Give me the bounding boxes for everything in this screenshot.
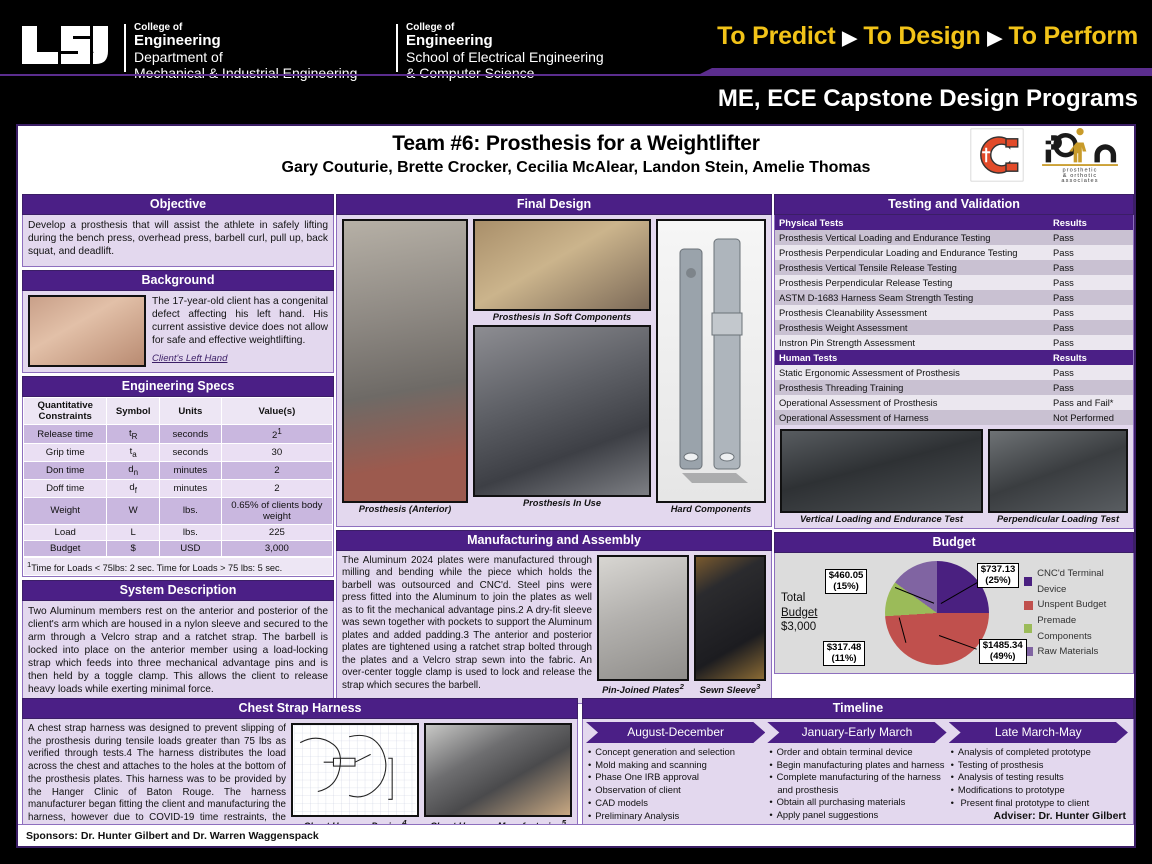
timeline-item: Preliminary Analysis [596,810,763,822]
header-accent-rule [0,68,1152,76]
system-description-text: Two Aluminum members rest on the anterio… [28,605,328,696]
budget-total-label-1: Total [781,591,829,605]
spec-symbol: $ [107,540,160,556]
prosthesis-in-use-photo [473,325,651,497]
chest-harness-heading: Chest Strap Harness [22,698,578,719]
poa-logo: prosthetic & orthotic associates [1034,128,1126,184]
legend-item-raw: Raw Materials [1024,644,1132,660]
caption: Vertical Loading and Endurance Test [780,513,983,524]
table-row: Prosthesis Vertical Loading and Enduranc… [775,230,1133,245]
test-name: Static Ergonomic Assessment of Prosthesi… [775,365,1049,380]
timeline-item: Complete manufacturing of the harness an… [777,771,944,795]
test-name: Instron Pin Strength Assessment [775,335,1049,350]
legend-item-cnc: CNC'd Terminal Device [1024,566,1132,597]
engineering-specs-table-wrap: Quantitative Constraints Symbol Units Va… [22,397,334,577]
program-title: ME, ECE Capstone Design Programs [718,85,1138,113]
chest-harness-item-1: Chest Harness Design4 [291,723,419,832]
spec-constraint: Load [24,524,107,540]
caption: Prosthesis In Use [473,497,651,508]
human-results-label: Results [1049,350,1133,365]
triangle-icon-2: ▶ [987,28,1001,49]
chest-harness-design-sketch [291,723,419,817]
tagline-perform: To Perform [1009,22,1139,50]
budget-chart: Total Budget $3,000 $460.05 (15%) [775,553,1133,673]
final-design-item-4: Hard Components [656,219,766,522]
spec-symbol: W [107,497,160,524]
callout-raw-materials: $460.05 (15%) [825,569,868,594]
prosthesis-anterior-photo [342,219,468,503]
legend-swatch-cnc [1024,577,1033,586]
testing-image-2: Perpendicular Loading Test [988,429,1128,524]
lsu-logo [18,22,118,68]
poster-canvas: Team #6: Prosthesis for a Weightlifter G… [16,124,1136,848]
budget-total-value: $3,000 [781,620,829,634]
legend-swatch-premade [1024,624,1033,633]
manufacturing-text: The Aluminum 2024 plates were manufactur… [342,555,592,692]
spec-value: 21 [221,425,332,444]
test-name: Prosthesis Vertical Loading and Enduranc… [775,230,1049,245]
right-column: Testing and Validation Physical Tests Re… [774,194,1134,674]
page-header: College of Engineering Department of Mec… [0,0,1152,122]
caption: Prosthesis (Anterior) [342,503,468,514]
spec-constraint: Release time [24,425,107,444]
callout-unspent-budget: $1485.34 (49%) [979,639,1027,664]
test-result: Pass [1049,320,1133,335]
tagline-predict: To Predict [717,22,835,50]
specs-col-values: Value(s) [221,398,332,425]
test-name: Prosthesis Threading Training [775,380,1049,395]
timeline-item: Analysis of testing results [959,771,1126,783]
table-row: Don time dn minutes 2 [24,462,333,480]
final-design-item-2: Prosthesis In Soft Components [473,219,651,322]
spec-symbol: df [107,480,160,498]
background-text: The 17-year-old client has a congenital … [152,295,328,347]
spec-constraint: Grip time [24,444,107,462]
manufacturing-item-1: Pin-Joined Plates2 [597,555,689,699]
test-result: Pass [1049,245,1133,260]
timeline-item: Present final prototype to client [959,797,1126,809]
test-result: Pass [1049,290,1133,305]
budget-total-label-2: Budget [781,606,829,620]
chest-harness-text: A chest strap harness was designed to pr… [28,723,286,838]
timeline-phase-label-1[interactable]: August-December [586,722,765,743]
spec-units: lbs. [159,497,221,524]
table-row: Prosthesis Vertical Tensile Release Test… [775,260,1133,275]
test-result: Pass [1049,305,1133,320]
timeline-item: Analysis of completed prototype [959,746,1126,758]
table-row: Load L lbs. 225 [24,524,333,540]
table-row: Grip time ta seconds 30 [24,444,333,462]
spec-symbol: tR [107,425,160,444]
table-row: Instron Pin Strength AssessmentPass [775,335,1133,350]
spec-constraint: Budget [24,540,107,556]
test-result: Pass and Fail* [1049,395,1133,410]
physical-tests-label: Physical Tests [775,215,1049,230]
spec-value: 2 [221,480,332,498]
timeline-item: Order and obtain terminal device [777,746,944,758]
timeline-phase-headers: August-December January-Early March Late… [586,722,1130,743]
timeline-item: Phase One IRB approval [596,771,763,783]
poster-authors: Gary Couturie, Brette Crocker, Cecilia M… [18,156,1134,177]
budget-body: Total Budget $3,000 $460.05 (15%) [774,553,1134,674]
table-row: Prosthesis Cleanability AssessmentPass [775,305,1133,320]
caption: Prosthesis In Soft Components [473,311,651,322]
system-description-heading: System Description [22,580,334,601]
hard-components-render [656,219,766,503]
dept1-department: Department of [134,50,357,66]
system-description-body: Two Aluminum members rest on the anterio… [22,601,334,701]
table-row: ASTM D-1683 Harness Seam Strength Testin… [775,290,1133,305]
final-design-item-3: Prosthesis In Use [473,325,651,508]
spec-symbol: L [107,524,160,540]
test-name: Operational Assessment of Prosthesis [775,395,1049,410]
header-divider-2 [396,24,398,72]
left-column: Objective Develop a prosthesis that will… [22,194,334,701]
manufacturing-body: The Aluminum 2024 plates were manufactur… [336,551,772,704]
budget-legend: CNC'd Terminal Device Unspent Budget Pre… [1024,566,1132,659]
partner-logos: prosthetic & orthotic associates [970,128,1126,184]
manufacturing-heading: Manufacturing and Assembly [336,530,772,551]
testing-table: Physical Tests Results Prosthesis Vertic… [775,215,1133,425]
dept2-school: School of Electrical Engineering [406,50,604,66]
test-result: Not Performed [1049,410,1133,425]
timeline-phase-label-3[interactable]: Late March-May [949,722,1128,743]
table-row: Static Ergonomic Assessment of Prosthesi… [775,365,1133,380]
test-result: Pass [1049,335,1133,350]
table-row: Weight W lbs. 0.65% of clients body weig… [24,497,333,524]
background-body: The 17-year-old client has a congenital … [22,291,334,373]
spec-value: 2 [221,462,332,480]
harness-sketch-svg [293,725,417,815]
test-result: Pass [1049,380,1133,395]
budget-pie-area: $460.05 (15%) $737.13 (25%) $317.48 (11%… [829,555,1020,671]
tagline-design: To Design [863,22,980,50]
engineering-specs-heading: Engineering Specs [22,376,334,397]
adviser-label: Adviser: Dr. Hunter Gilbert [994,810,1126,822]
final-design-center: Prosthesis In Soft Components Prosthesis… [473,219,651,522]
timeline-item: Observation of client [596,784,763,796]
timeline-item: Modifications to prototype [959,784,1126,796]
middle-column: Final Design Prosthesis (Anterior) Prost… [336,194,772,704]
spec-symbol: dn [107,462,160,480]
physical-results-label: Results [1049,215,1133,230]
spec-value: 30 [221,444,332,462]
timeline-item: CAD models [596,797,763,809]
specs-footnote: 1Time for Loads < 75lbs: 2 sec. Time for… [23,557,333,576]
budget-total: Total Budget $3,000 [777,591,829,634]
specs-header-row: Quantitative Constraints Symbol Units Va… [24,398,333,425]
chest-harness-section: Chest Strap Harness A chest strap harnes… [22,698,578,837]
objective-text: Develop a prosthesis that will assist th… [28,219,328,258]
caption: Sewn Sleeve3 [694,681,766,695]
caption: Hard Components [656,503,766,514]
final-design-item-1: Prosthesis (Anterior) [342,219,468,522]
triangle-icon-1: ▶ [842,28,856,49]
manufacturing-item-2: Sewn Sleeve3 [694,555,766,699]
testing-images: Vertical Loading and Endurance Test Perp… [775,425,1133,528]
timeline-item: Apply panel suggestions [777,809,944,821]
chest-harness-body: A chest strap harness was designed to pr… [22,719,578,837]
budget-pie [885,561,989,665]
timeline-heading: Timeline [582,698,1134,719]
vertical-loading-test-photo [780,429,983,513]
spec-value: 0.65% of clients body weight [221,497,332,524]
timeline-phase-label-2[interactable]: January-Early March [767,722,946,743]
specs-col-constraint: Quantitative Constraints [24,398,107,425]
pin-joined-plates-photo [597,555,689,681]
objective-body: Develop a prosthesis that will assist th… [22,215,334,267]
sewn-sleeve-photo [694,555,766,681]
caption: Pin-Joined Plates2 [597,681,689,695]
final-design-body: Prosthesis (Anterior) Prosthesis In Soft… [336,215,772,527]
human-tests-header: Human Tests Results [775,350,1133,365]
test-result: Pass [1049,365,1133,380]
spec-value: 3,000 [221,540,332,556]
spec-units: USD [159,540,221,556]
bottom-row: Chest Strap Harness A chest strap harnes… [22,698,1134,837]
table-row: Doff time df minutes 2 [24,480,333,498]
caption: Perpendicular Loading Test [988,513,1128,524]
timeline-item: Concept generation and selection [596,746,763,758]
legend-item-unspent: Unspent Budget [1024,597,1132,613]
table-row: Release time tR seconds 21 [24,425,333,444]
spec-constraint: Weight [24,497,107,524]
spec-constraint: Doff time [24,480,107,498]
spec-units: lbs. [159,524,221,540]
final-design-heading: Final Design [336,194,772,215]
table-row: Prosthesis Perpendicular Release Testing… [775,275,1133,290]
test-result: Pass [1049,275,1133,290]
timeline-item: Begin manufacturing plates and harness [777,759,944,771]
test-name: Prosthesis Vertical Tensile Release Test… [775,260,1049,275]
table-row: Budget $ USD 3,000 [24,540,333,556]
catholic-high-c-logo [970,128,1024,182]
specs-col-units: Units [159,398,221,425]
spec-symbol: ta [107,444,160,462]
table-row: Prosthesis Weight AssessmentPass [775,320,1133,335]
test-name: Prosthesis Perpendicular Loading and End… [775,245,1049,260]
hard-components-svg [658,221,764,501]
perpendicular-loading-test-photo [988,429,1128,513]
test-name: ASTM D-1683 Harness Seam Strength Testin… [775,290,1049,305]
dept2-engineering: Engineering [406,33,604,50]
timeline-item: Obtain all purchasing materials [777,796,944,808]
sponsors-label: Sponsors: Dr. Hunter Gilbert and Dr. War… [26,830,319,842]
spec-value: 225 [221,524,332,540]
background-heading: Background [22,270,334,291]
specs-col-symbol: Symbol [107,398,160,425]
test-result: Pass [1049,260,1133,275]
timeline-item: Mold making and scanning [596,759,763,771]
header-divider-1 [124,24,126,72]
test-result: Pass [1049,230,1133,245]
engineering-specs-table: Quantitative Constraints Symbol Units Va… [23,397,333,557]
testing-image-1: Vertical Loading and Endurance Test [780,429,983,524]
background-caption: Client's Left Hand [152,353,328,364]
test-name: Prosthesis Perpendicular Release Testing [775,275,1049,290]
dept1-engineering: Engineering [134,33,357,50]
testing-heading: Testing and Validation [774,194,1134,215]
tagline: To Predict ▶ To Design ▶ To Perform [717,22,1138,51]
spec-constraint: Don time [24,462,107,480]
timeline-item: Testing of prosthesis [959,759,1126,771]
spec-units: seconds [159,444,221,462]
chest-harness-manufacturing-photo [424,723,572,817]
budget-heading: Budget [774,532,1134,553]
legend-item-premade: Premade Components [1024,613,1132,644]
callout-cnc-device: $737.13 (25%) [977,563,1020,588]
testing-table-wrap: Physical Tests Results Prosthesis Vertic… [774,215,1134,529]
objective-heading: Objective [22,194,334,215]
poster-title-area: Team #6: Prosthesis for a Weightlifter G… [18,126,1134,194]
test-name: Operational Assessment of Harness [775,410,1049,425]
test-name: Prosthesis Cleanability Assessment [775,305,1049,320]
prosthesis-soft-components-photo [473,219,651,311]
table-row: Operational Assessment of HarnessNot Per… [775,410,1133,425]
clients-left-hand-photo [28,295,146,367]
spec-units: minutes [159,462,221,480]
spec-units: minutes [159,480,221,498]
poster-title: Team #6: Prosthesis for a Weightlifter [18,126,1134,156]
table-row: Operational Assessment of ProsthesisPass… [775,395,1133,410]
table-row: Prosthesis Threading TrainingPass [775,380,1133,395]
test-name: Prosthesis Weight Assessment [775,320,1049,335]
human-tests-label: Human Tests [775,350,1049,365]
physical-tests-header: Physical Tests Results [775,215,1133,230]
table-row: Prosthesis Perpendicular Loading and End… [775,245,1133,260]
callout-premade-components: $317.48 (11%) [823,641,866,666]
poster-footer: Sponsors: Dr. Hunter Gilbert and Dr. War… [18,824,1134,846]
chest-harness-item-2: Chest Harness Manufacturing5 [424,723,572,832]
legend-swatch-unspent [1024,601,1033,610]
svg-text:associates: associates [1061,178,1098,184]
spec-units: seconds [159,425,221,444]
